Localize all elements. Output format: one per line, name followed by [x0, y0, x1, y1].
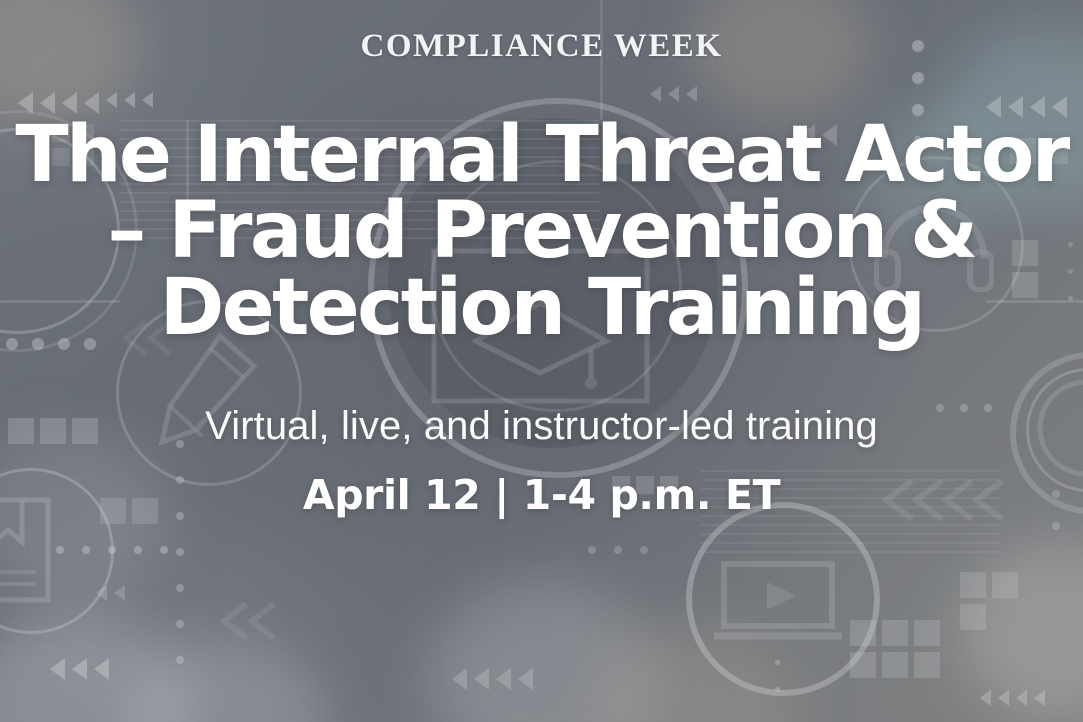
brand-logo: COMPLIANCE WEEK — [360, 28, 722, 65]
page-title-line-3: Detection Training — [7, 270, 1077, 346]
event-datetime: April 12 | 1-4 p.m. ET — [303, 471, 780, 519]
page-title-line-1: The Internal Threat Actor — [7, 117, 1077, 193]
page-title: The Internal Threat Actor – Fraud Preven… — [7, 117, 1077, 346]
page-title-line-2: – Fraud Prevention & — [7, 193, 1077, 269]
banner-content: COMPLIANCE WEEK The Internal Threat Acto… — [0, 0, 1083, 722]
event-promo-banner: COMPLIANCE WEEK The Internal Threat Acto… — [0, 0, 1083, 722]
event-subtitle: Virtual, live, and instructor-led traini… — [205, 404, 878, 449]
